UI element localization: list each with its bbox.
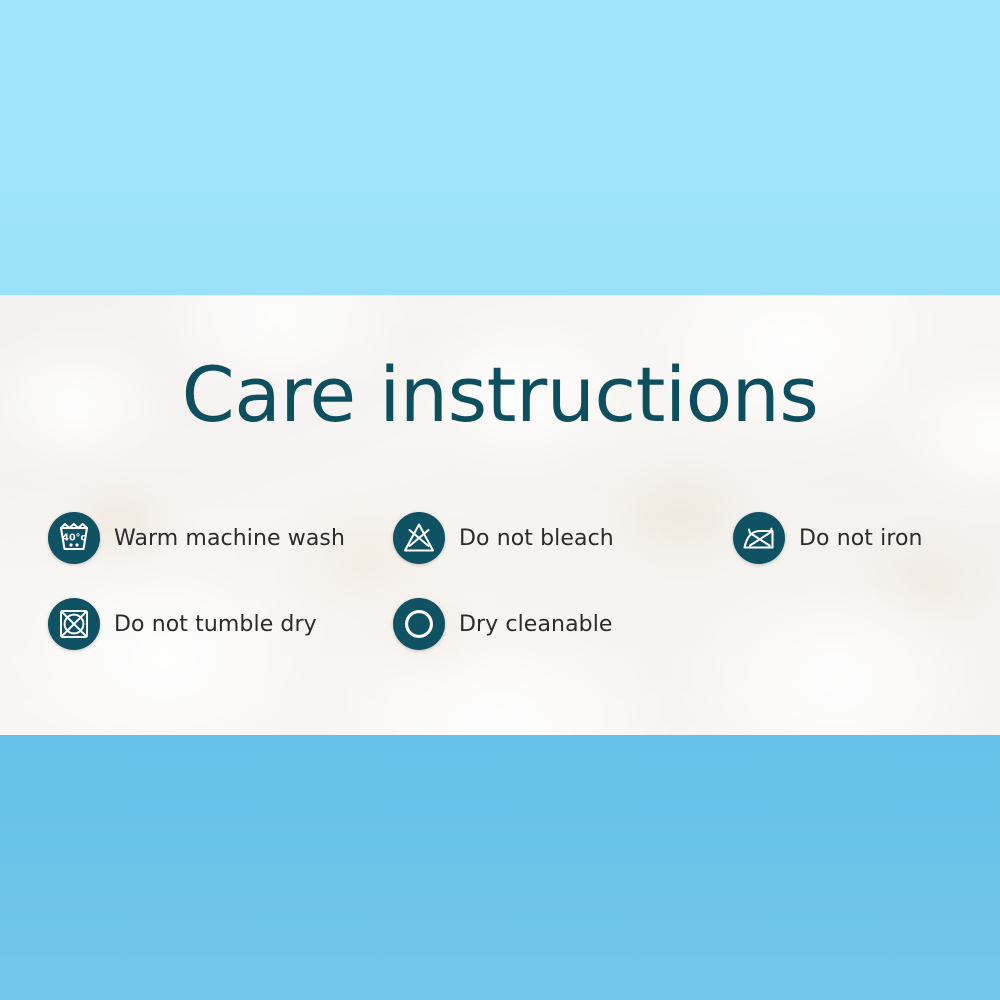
care-item-label: Do not iron <box>799 526 923 551</box>
care-item-warm-machine-wash[interactable]: 40°c Warm machine wash <box>48 512 393 564</box>
wash-tub-40c-icon: 40°c <box>48 512 100 564</box>
bleach-triangle-crossed-icon <box>393 512 445 564</box>
iron-crossed-icon <box>733 512 785 564</box>
top-color-band <box>0 0 1000 295</box>
svg-text:40°c: 40°c <box>62 532 86 543</box>
care-item-dry-cleanable[interactable]: Dry cleanable <box>393 598 733 650</box>
care-items-grid: 40°c Warm machine wash <box>48 495 988 667</box>
care-instructions-banner-page: Care instructions 40°c <box>0 0 1000 1000</box>
care-item-label: Dry cleanable <box>459 612 613 637</box>
care-item-label: Warm machine wash <box>114 526 345 551</box>
tumble-dry-crossed-icon <box>48 598 100 650</box>
page-title: Care instructions <box>0 357 1000 433</box>
bottom-color-band <box>0 735 1000 1000</box>
dry-clean-circle-icon <box>393 598 445 650</box>
care-items-row-2: Do not tumble dry Dry cleanable <box>48 581 988 667</box>
care-item-label: Do not bleach <box>459 526 614 551</box>
care-item-do-not-iron[interactable]: Do not iron <box>733 512 983 564</box>
care-item-label: Do not tumble dry <box>114 612 317 637</box>
banner: Care instructions 40°c <box>0 295 1000 735</box>
care-items-row-1: 40°c Warm machine wash <box>48 495 988 581</box>
care-item-do-not-bleach[interactable]: Do not bleach <box>393 512 733 564</box>
care-item-do-not-tumble-dry[interactable]: Do not tumble dry <box>48 598 393 650</box>
